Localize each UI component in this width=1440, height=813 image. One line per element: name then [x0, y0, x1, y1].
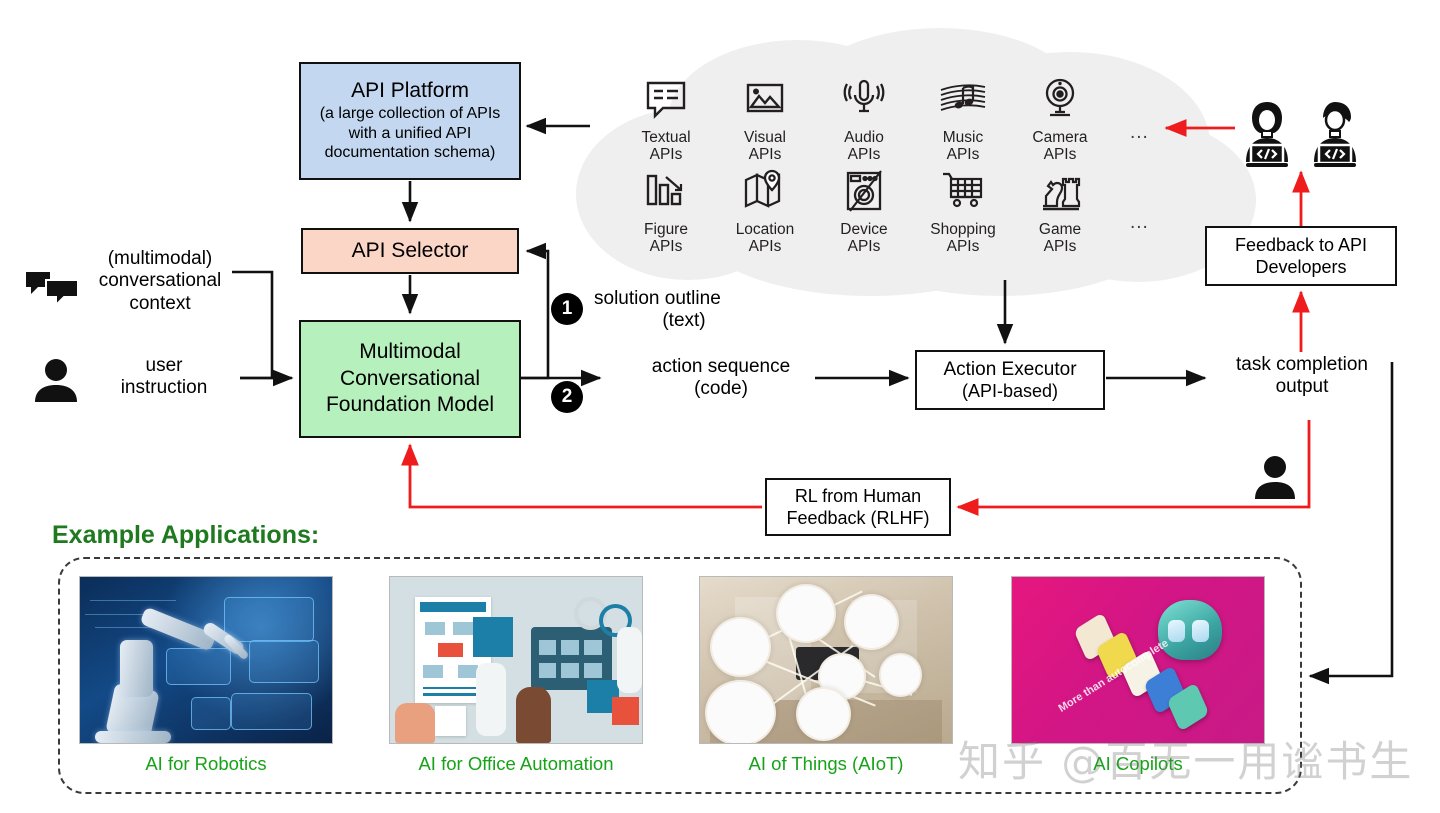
action-executor-sub: (API-based) — [962, 381, 1058, 401]
api-platform-sub1: (a large collection of APIs — [320, 104, 501, 123]
api-label: Figure — [644, 221, 688, 238]
watermark-text: 知乎 @百无一用谧书生 — [958, 728, 1413, 789]
example-item-office[interactable]: AI for Office Automation — [389, 576, 643, 775]
api-label: APIs — [947, 238, 980, 255]
api-label: APIs — [650, 238, 683, 255]
example-caption: AI for Robotics — [79, 753, 333, 775]
human-feedback-user-icon — [1252, 455, 1298, 499]
api-item-textual[interactable]: Textual APIs — [618, 76, 714, 164]
rlhf-box[interactable]: RL from Human Feedback (RLHF) — [765, 478, 951, 536]
api-label: APIs — [749, 146, 782, 163]
api-label: Visual — [744, 129, 786, 146]
foundation-model-line3: Foundation Model — [326, 392, 494, 418]
shopping-api-icon — [915, 168, 1011, 218]
action-executor-title: Action Executor — [943, 359, 1076, 380]
chat-bubbles-icon — [24, 268, 82, 308]
api-label: Camera — [1032, 129, 1087, 146]
api-label: Shopping — [930, 221, 996, 238]
api-item-visual[interactable]: Visual APIs — [717, 76, 813, 164]
conversational-context-label: (multimodal) conversational context — [72, 248, 248, 315]
game-api-icon — [1012, 168, 1108, 218]
badge-two: 2 — [551, 381, 583, 413]
camera-api-icon — [1012, 76, 1108, 126]
api-selector-box[interactable]: API Selector — [301, 228, 519, 274]
api-label: Music — [943, 129, 983, 146]
example-applications-heading: Example Applications: — [52, 521, 319, 550]
developer-male-icon — [1306, 100, 1364, 170]
api-label: APIs — [650, 146, 683, 163]
ai-copilot-image: More than autocomplete — [1011, 576, 1265, 744]
audio-api-icon — [816, 76, 912, 126]
api-item-device[interactable]: Device APIs — [816, 168, 912, 256]
api-platform-box[interactable]: API Platform (a large collection of APIs… — [299, 62, 521, 180]
api-label: Game — [1039, 221, 1081, 238]
api-label: Location — [736, 221, 795, 238]
example-caption: AI of Things (AIoT) — [699, 753, 953, 775]
api-item-camera[interactable]: Camera APIs — [1012, 76, 1108, 164]
rlhf-line1: RL from Human — [795, 485, 921, 507]
api-item-figure[interactable]: Figure APIs — [618, 168, 714, 256]
api-platform-title: API Platform — [351, 79, 469, 103]
textual-api-icon — [618, 76, 714, 126]
feedback-to-api-developers-box[interactable]: Feedback to API Developers — [1205, 226, 1397, 286]
api-label: APIs — [749, 238, 782, 255]
rlhf-line2: Feedback (RLHF) — [786, 507, 929, 529]
example-item-robotics[interactable]: AI for Robotics — [79, 576, 333, 775]
api-label: APIs — [947, 146, 980, 163]
feedback-line1: Feedback to API — [1235, 234, 1367, 256]
example-item-aiot[interactable]: AI of Things (AIoT) — [699, 576, 953, 775]
location-api-icon — [717, 168, 813, 218]
cloud-ellipsis-bottom: ... — [1130, 212, 1149, 234]
foundation-model-line1: Multimodal — [359, 339, 461, 365]
device-api-icon — [816, 168, 912, 218]
api-label: Textual — [641, 129, 690, 146]
badge-one: 1 — [551, 293, 583, 325]
office-automation-image — [389, 576, 643, 744]
example-caption: AI for Office Automation — [389, 753, 643, 775]
user-avatar-icon — [32, 358, 80, 402]
api-item-shopping[interactable]: Shopping APIs — [915, 168, 1011, 256]
api-item-music[interactable]: Music APIs — [915, 76, 1011, 164]
api-item-location[interactable]: Location APIs — [717, 168, 813, 256]
api-platform-sub2: with a unified API — [349, 124, 472, 143]
api-label: APIs — [1044, 146, 1077, 163]
api-item-game[interactable]: Game APIs — [1012, 168, 1108, 256]
smart-home-image — [699, 576, 953, 744]
action-sequence-label: action sequence (code) — [630, 356, 812, 401]
developer-female-icon — [1238, 100, 1296, 170]
api-label: APIs — [848, 238, 881, 255]
music-api-icon — [915, 76, 1011, 126]
cloud-ellipsis-top: ... — [1130, 122, 1149, 144]
task-completion-output-label: task completion output — [1212, 354, 1392, 399]
api-label: APIs — [1044, 238, 1077, 255]
api-item-audio[interactable]: Audio APIs — [816, 76, 912, 164]
api-label: Audio — [844, 129, 884, 146]
api-label: Device — [840, 221, 887, 238]
visual-api-icon — [717, 76, 813, 126]
api-platform-sub3: documentation schema) — [325, 143, 496, 162]
action-executor-box[interactable]: Action Executor (API-based) — [915, 350, 1105, 410]
api-label: APIs — [848, 146, 881, 163]
api-selector-title: API Selector — [352, 239, 469, 263]
robotic-arm-image — [79, 576, 333, 744]
feedback-line2: Developers — [1255, 256, 1346, 278]
foundation-model-line2: Conversational — [340, 366, 480, 392]
user-instruction-label: user instruction — [88, 355, 240, 400]
diagram-canvas: Textual APIs Visual APIs Audio APIs — [0, 0, 1440, 813]
solution-outline-label: solution outline (text) — [594, 288, 774, 333]
foundation-model-box[interactable]: Multimodal Conversational Foundation Mod… — [299, 320, 521, 438]
figure-api-icon — [618, 168, 714, 218]
